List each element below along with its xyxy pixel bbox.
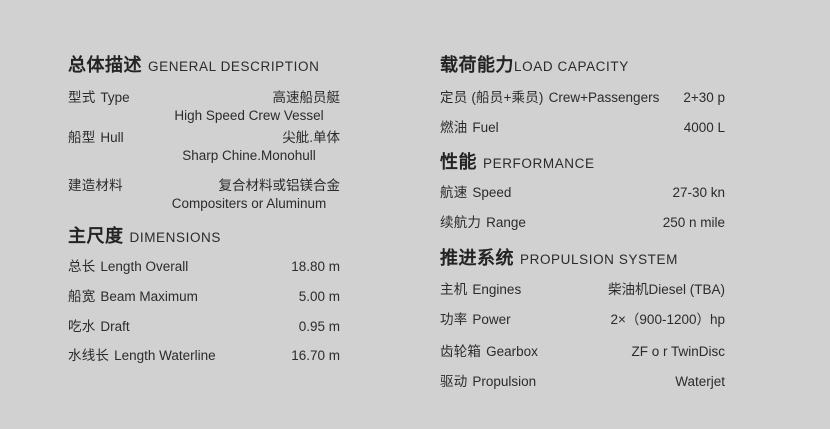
- spec-label-beam-maximum: 船宽Beam Maximum: [68, 290, 198, 304]
- spec-value-cn: 尖舭.单体: [158, 131, 340, 145]
- section-title-en: GENERAL DESCRIPTION: [148, 59, 319, 74]
- spec-label-cn: 航速: [440, 185, 467, 200]
- spec-label-cn: 水线长: [68, 348, 109, 363]
- spec-value-construction-material: 复合材料或铝镁合金 Compositers or Aluminum: [158, 179, 340, 210]
- section-header-performance: 性能PERFORMANCE: [440, 153, 595, 172]
- spec-label-en: Speed: [472, 185, 511, 200]
- section-title-en: DIMENSIONS: [130, 230, 222, 245]
- section-header-load-capacity: 载荷能力LOAD CAPACITY: [440, 56, 629, 75]
- spec-label-cn: 吃水: [68, 319, 95, 334]
- spec-label-cn: 定员 (船员+乘员): [440, 90, 544, 105]
- spec-label-en: Range: [486, 215, 526, 230]
- spec-label-range: 续航力Range: [440, 216, 526, 230]
- spec-label-en: Gearbox: [486, 344, 538, 359]
- spec-label-en: Type: [100, 90, 129, 105]
- spec-label-cn: 续航力: [440, 215, 481, 230]
- spec-sheet: 总体描述GENERAL DESCRIPTION 型式Type 高速船员艇 Hig…: [0, 0, 830, 429]
- spec-label-hull: 船型Hull: [68, 131, 124, 145]
- spec-value-en: Compositers or Aluminum: [158, 197, 340, 211]
- spec-value-length-waterline: 16.70 m: [190, 349, 340, 363]
- spec-label-en: Fuel: [472, 120, 498, 135]
- spec-label-cn: 驱动: [440, 374, 467, 389]
- spec-label-engines: 主机Engines: [440, 283, 521, 297]
- spec-value-fuel: 4000 L: [605, 121, 725, 135]
- spec-label-cn: 燃油: [440, 120, 467, 135]
- spec-value-draft: 0.95 m: [190, 320, 340, 334]
- section-title-cn: 推进系统: [440, 248, 514, 268]
- spec-value-cn: 复合材料或铝镁合金: [158, 179, 340, 193]
- section-title-cn: 性能: [440, 152, 477, 172]
- spec-label-propulsion: 驱动Propulsion: [440, 375, 536, 389]
- spec-label-construction-material: 建造材料: [68, 179, 128, 193]
- spec-label-gearbox: 齿轮箱Gearbox: [440, 345, 538, 359]
- spec-label-cn: 船宽: [68, 289, 95, 304]
- section-title-en: PERFORMANCE: [483, 156, 595, 171]
- section-title-en: LOAD CAPACITY: [514, 59, 629, 74]
- spec-value-hull: 尖舭.单体 Sharp Chine.Monohull: [158, 131, 340, 162]
- section-header-propulsion-system: 推进系统PROPULSION SYSTEM: [440, 249, 678, 268]
- section-title-en: PROPULSION SYSTEM: [520, 252, 678, 267]
- spec-value-type: 高速船员艇 High Speed Crew Vessel: [158, 91, 340, 122]
- spec-value-gearbox: ZF o r TwinDisc: [565, 345, 725, 359]
- spec-value-power: 2×（900-1200）hp: [540, 313, 725, 327]
- spec-label-cn: 主机: [440, 282, 467, 297]
- spec-label-cn: 总长: [68, 259, 95, 274]
- spec-label-en: Length Overall: [100, 259, 188, 274]
- section-header-general-description: 总体描述GENERAL DESCRIPTION: [68, 56, 319, 75]
- spec-label-en: Beam Maximum: [100, 289, 198, 304]
- spec-value-crew-passengers: 2+30 p: [635, 91, 725, 105]
- section-title-cn: 总体描述: [68, 55, 142, 75]
- section-title-cn: 载荷能力: [440, 55, 514, 75]
- section-title-cn: 主尺度: [68, 226, 124, 246]
- spec-value-range: 250 n mile: [575, 216, 725, 230]
- spec-label-cn: 建造材料: [68, 178, 123, 193]
- spec-value-speed: 27-30 kn: [585, 186, 725, 200]
- spec-value-en: Sharp Chine.Monohull: [158, 149, 340, 163]
- spec-label-power: 功率Power: [440, 313, 511, 327]
- spec-label-crew-passengers: 定员 (船员+乘员)Crew+Passengers: [440, 91, 659, 105]
- spec-label-draft: 吃水Draft: [68, 320, 130, 334]
- spec-value-engines: 柴油机Diesel (TBA): [545, 283, 725, 297]
- spec-label-cn: 齿轮箱: [440, 344, 481, 359]
- spec-label-length-overall: 总长Length Overall: [68, 260, 188, 274]
- spec-label-cn: 型式: [68, 90, 95, 105]
- spec-label-fuel: 燃油Fuel: [440, 121, 499, 135]
- spec-value-en: High Speed Crew Vessel: [158, 109, 340, 123]
- spec-value-cn: 高速船员艇: [158, 91, 340, 105]
- section-header-dimensions: 主尺度DIMENSIONS: [68, 227, 221, 246]
- spec-label-cn: 船型: [68, 130, 95, 145]
- spec-label-type: 型式Type: [68, 91, 130, 105]
- spec-value-propulsion: Waterjet: [595, 375, 725, 389]
- spec-label-cn: 功率: [440, 312, 467, 327]
- spec-label-en: Propulsion: [472, 374, 536, 389]
- spec-label-en: Hull: [100, 130, 123, 145]
- spec-label-en: Draft: [100, 319, 129, 334]
- spec-label-speed: 航速Speed: [440, 186, 511, 200]
- spec-label-en: Power: [472, 312, 510, 327]
- spec-value-length-overall: 18.80 m: [190, 260, 340, 274]
- spec-label-en: Engines: [472, 282, 521, 297]
- spec-value-beam-maximum: 5.00 m: [190, 290, 340, 304]
